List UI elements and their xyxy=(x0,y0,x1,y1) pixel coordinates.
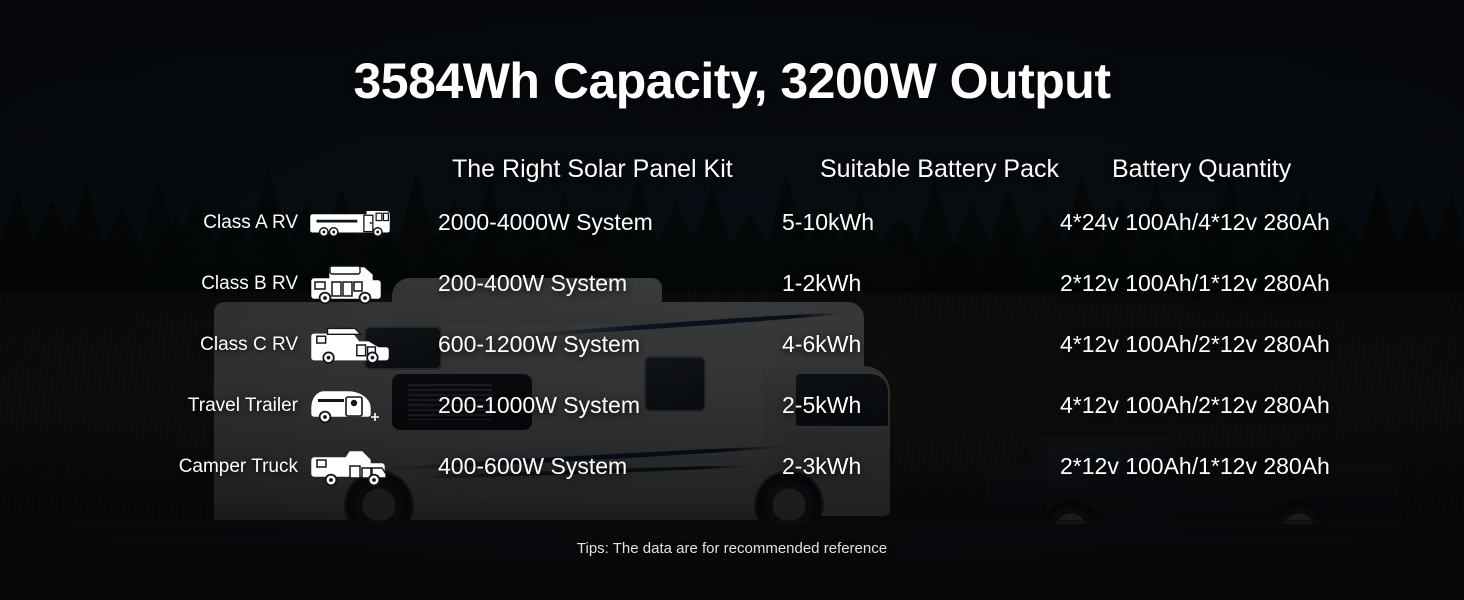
compatibility-table: The Right Solar Panel Kit Suitable Batte… xyxy=(0,146,1464,497)
row-type-cell: Class C RV xyxy=(0,325,400,365)
class-c-rv-icon xyxy=(310,325,390,365)
row-kit-cell: 400-600W System xyxy=(400,453,730,480)
infographic-content: 3584Wh Capacity, 3200W Output The Right … xyxy=(0,0,1464,600)
row-qty-value: 4*12v 100Ah/2*12v 280Ah xyxy=(1060,392,1330,418)
table-row: Class C RV xyxy=(0,314,1464,375)
row-type-label: Travel Trailer xyxy=(188,395,298,417)
table-row: Class B RV xyxy=(0,253,1464,314)
row-kit-value: 200-400W System xyxy=(438,270,627,296)
row-qty-value: 4*12v 100Ah/2*12v 280Ah xyxy=(1060,331,1330,357)
header-kit-label: The Right Solar Panel Kit xyxy=(438,155,733,183)
row-pack-cell: 2-5kWh xyxy=(730,392,1030,419)
row-pack-cell: 2-3kWh xyxy=(730,453,1030,480)
table-header-row: The Right Solar Panel Kit Suitable Batte… xyxy=(0,146,1464,192)
row-qty-value: 4*24v 100Ah/4*12v 280Ah xyxy=(1060,209,1330,235)
disclaimer-note: Tips: The data are for recommended refer… xyxy=(0,540,1464,557)
header-qty-label: Battery Quantity xyxy=(1060,155,1291,183)
row-pack-value: 1-2kWh xyxy=(782,270,861,296)
row-qty-value: 2*12v 100Ah/1*12v 280Ah xyxy=(1060,453,1330,479)
row-kit-value: 400-600W System xyxy=(438,453,627,479)
header-kit-cell: The Right Solar Panel Kit xyxy=(400,155,730,184)
table-row: Class A RV xyxy=(0,192,1464,253)
class-a-rv-icon xyxy=(310,203,390,243)
row-kit-cell: 2000-4000W System xyxy=(400,209,730,236)
row-pack-cell: 4-6kWh xyxy=(730,331,1030,358)
row-kit-cell: 200-400W System xyxy=(400,270,730,297)
header-pack-cell: Suitable Battery Pack xyxy=(730,155,1030,184)
row-pack-value: 4-6kWh xyxy=(782,331,861,357)
header-qty-cell: Battery Quantity xyxy=(1030,155,1464,184)
infographic-stage: 3584Wh Capacity, 3200W Output The Right … xyxy=(0,0,1464,600)
row-type-cell: Class B RV xyxy=(0,264,400,304)
camper-truck-icon xyxy=(310,447,390,487)
row-type-cell: Travel Trailer xyxy=(0,386,400,426)
row-kit-value: 2000-4000W System xyxy=(438,209,653,235)
row-type-label: Class A RV xyxy=(203,212,298,234)
row-qty-value: 2*12v 100Ah/1*12v 280Ah xyxy=(1060,270,1330,296)
row-qty-cell: 2*12v 100Ah/1*12v 280Ah xyxy=(1030,453,1464,480)
row-kit-value: 600-1200W System xyxy=(438,331,640,357)
row-pack-value: 5-10kWh xyxy=(782,209,874,235)
table-row: Camper Truck xyxy=(0,436,1464,497)
row-kit-cell: 600-1200W System xyxy=(400,331,730,358)
row-kit-cell: 200-1000W System xyxy=(400,392,730,419)
row-pack-cell: 5-10kWh xyxy=(730,209,1030,236)
row-qty-cell: 4*12v 100Ah/2*12v 280Ah xyxy=(1030,331,1464,358)
page-title: 3584Wh Capacity, 3200W Output xyxy=(0,52,1464,110)
row-kit-value: 200-1000W System xyxy=(438,392,640,418)
row-pack-cell: 1-2kWh xyxy=(730,270,1030,297)
row-type-label: Camper Truck xyxy=(179,456,298,478)
row-type-label: Class B RV xyxy=(201,273,298,295)
row-pack-value: 2-3kWh xyxy=(782,453,861,479)
row-type-cell: Class A RV xyxy=(0,203,400,243)
row-qty-cell: 4*12v 100Ah/2*12v 280Ah xyxy=(1030,392,1464,419)
travel-trailer-icon xyxy=(310,386,390,426)
header-pack-label: Suitable Battery Pack xyxy=(782,155,1059,183)
row-pack-value: 2-5kWh xyxy=(782,392,861,418)
table-row: Travel Trailer 200- xyxy=(0,375,1464,436)
row-qty-cell: 4*24v 100Ah/4*12v 280Ah xyxy=(1030,209,1464,236)
row-type-label: Class C RV xyxy=(200,334,298,356)
row-type-cell: Camper Truck xyxy=(0,447,400,487)
class-b-rv-icon xyxy=(310,264,390,304)
row-qty-cell: 2*12v 100Ah/1*12v 280Ah xyxy=(1030,270,1464,297)
